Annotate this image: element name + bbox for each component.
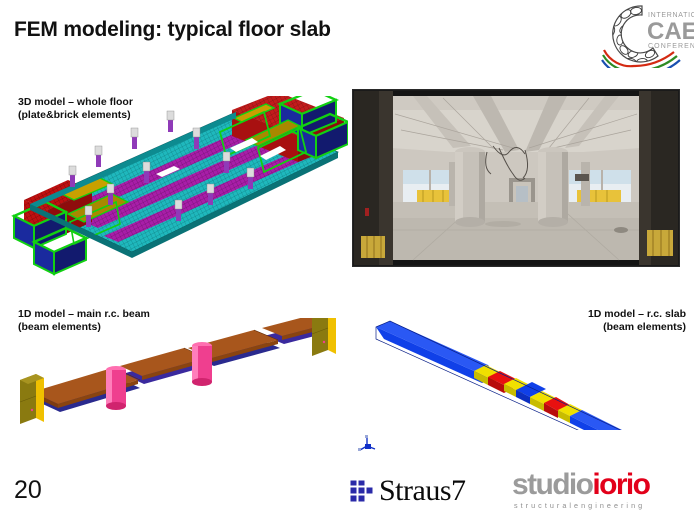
straus7-wordmark: Straus7 (379, 476, 466, 506)
concrete-column (455, 147, 485, 227)
beam-column (192, 342, 212, 386)
fem-1d-main-beam-model (18, 318, 338, 433)
straus7-logo: Straus7 (350, 474, 466, 508)
studio-iorio-wordmark: studioiorio (512, 470, 688, 500)
studio-iorio-tagline: structuralengineering (514, 501, 688, 510)
straus7-mesh-icon (350, 480, 376, 502)
concrete-column (538, 147, 568, 227)
fem-3d-floor-model (8, 96, 348, 276)
beam-end-support-left (20, 374, 44, 424)
cae-conference-logo: INTERNATIONAL CAE CONFERENCE (590, 2, 694, 68)
construction-floor-photograph (352, 89, 680, 267)
page-title: FEM modeling: typical floor slab (14, 18, 331, 42)
studio-iorio-part2: iorio (592, 468, 649, 501)
caption-3d-line1: 3D model – whole floor (18, 96, 133, 109)
cae-line-main: CAE (647, 18, 694, 45)
caption-beam-line1: 1D model – main r.c. beam (18, 308, 150, 321)
page-number: 20 (14, 476, 42, 505)
caption-3d-model: 3D model – whole floor (plate&brick elem… (18, 96, 133, 122)
axis-triad-indicator (355, 432, 383, 458)
caption-slab-line2: (beam elements) (588, 321, 686, 334)
beam-end-support-right (312, 318, 336, 356)
caption-slab-line1: 1D model – r.c. slab (588, 308, 686, 321)
cae-line-bottom: CONFERENCE (648, 43, 694, 50)
studio-iorio-logo: studioiorio structuralengineering (512, 470, 688, 510)
caption-beam-model: 1D model – main r.c. beam (beam elements… (18, 308, 150, 334)
caption-slab-model: 1D model – r.c. slab (beam elements) (588, 308, 686, 334)
studio-iorio-part1: studio (512, 468, 592, 501)
caption-beam-line2: (beam elements) (18, 321, 150, 334)
slab-strip (376, 321, 652, 430)
caption-3d-line2: (plate&brick elements) (18, 109, 133, 122)
slide-canvas: FEM modeling: typical floor slab (0, 0, 700, 525)
beam-column (106, 366, 126, 410)
